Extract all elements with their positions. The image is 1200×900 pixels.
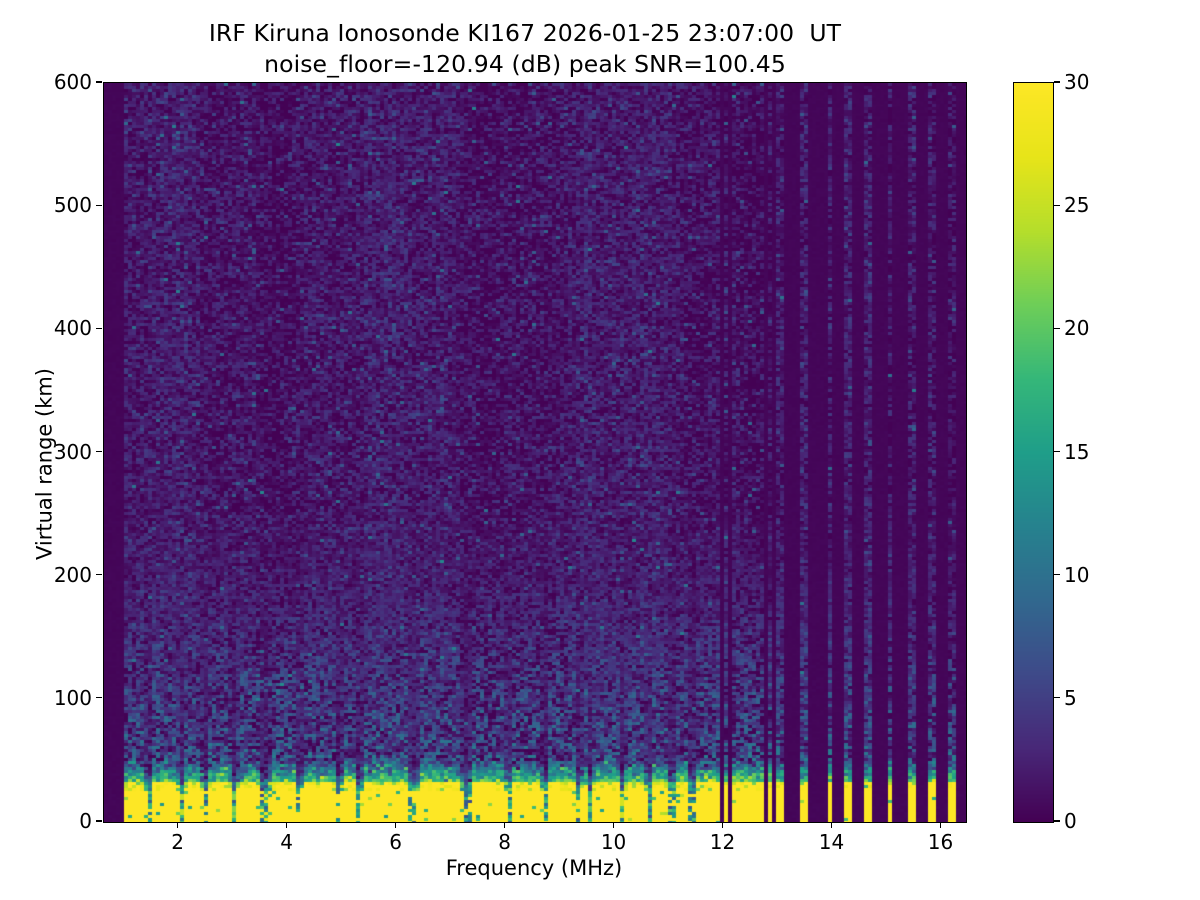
ionogram-heatmap[interactable]	[104, 83, 966, 822]
ionogram-figure: IRF Kiruna Ionosonde KI167 2026-01-25 23…	[0, 0, 1200, 900]
colorbar-tick-label: 0	[1064, 809, 1077, 833]
ionogram-plot-area[interactable]	[103, 82, 967, 823]
colorbar-tick-mark	[1054, 574, 1060, 575]
x-tick-mark	[722, 822, 723, 828]
x-tick-mark	[940, 822, 941, 828]
y-tick-mark	[96, 81, 102, 82]
colorbar-tick-label: 30	[1064, 70, 1089, 94]
x-tick-label: 6	[389, 830, 402, 854]
y-tick-label: 0	[79, 809, 92, 833]
x-tick-label: 10	[601, 830, 626, 854]
colorbar-tick-label: 20	[1064, 316, 1089, 340]
page-title: IRF Kiruna Ionosonde KI167 2026-01-25 23…	[0, 18, 1050, 79]
title-line-2: noise_floor=-120.94 (dB) peak SNR=100.45	[0, 49, 1050, 80]
colorbar-label: SNR (dB)	[1092, 0, 1114, 82]
colorbar-tick-label: 10	[1064, 563, 1089, 587]
x-tick-mark	[504, 822, 505, 828]
x-tick-mark	[613, 822, 614, 828]
y-tick-mark	[96, 328, 102, 329]
colorbar-tick-mark	[1054, 328, 1060, 329]
x-tick-mark	[286, 822, 287, 828]
colorbar-tick-label: 5	[1064, 686, 1077, 710]
y-tick-label: 200	[54, 563, 92, 587]
y-tick-mark	[96, 205, 102, 206]
y-tick-mark	[96, 820, 102, 821]
y-tick-mark	[96, 451, 102, 452]
colorbar-tick-mark	[1054, 451, 1060, 452]
y-tick-mark	[96, 574, 102, 575]
colorbar-tick-mark	[1054, 697, 1060, 698]
colorbar[interactable]: 051015202530	[1013, 82, 1052, 821]
title-line-1: IRF Kiruna Ionosonde KI167 2026-01-25 23…	[0, 18, 1050, 49]
y-tick-label: 400	[54, 316, 92, 340]
x-tick-mark	[177, 822, 178, 828]
colorbar-tick-mark	[1054, 81, 1060, 82]
colorbar-tick-label: 15	[1064, 440, 1089, 464]
x-tick-label: 16	[928, 830, 953, 854]
x-tick-mark	[831, 822, 832, 828]
y-tick-label: 500	[54, 193, 92, 217]
y-tick-label: 100	[54, 686, 92, 710]
colorbar-tick-mark	[1054, 205, 1060, 206]
colorbar-tick-mark	[1054, 820, 1060, 821]
y-tick-label: 600	[54, 70, 92, 94]
x-tick-label: 12	[710, 830, 735, 854]
colorbar-tick-label: 25	[1064, 193, 1089, 217]
y-tick-label: 300	[54, 440, 92, 464]
x-tick-label: 8	[498, 830, 511, 854]
x-tick-label: 14	[819, 830, 844, 854]
y-tick-mark	[96, 697, 102, 698]
x-tick-label: 4	[280, 830, 293, 854]
colorbar-gradient	[1013, 82, 1054, 823]
x-tick-label: 2	[171, 830, 184, 854]
x-axis-label: Frequency (MHz)	[103, 856, 965, 880]
x-tick-mark	[395, 822, 396, 828]
